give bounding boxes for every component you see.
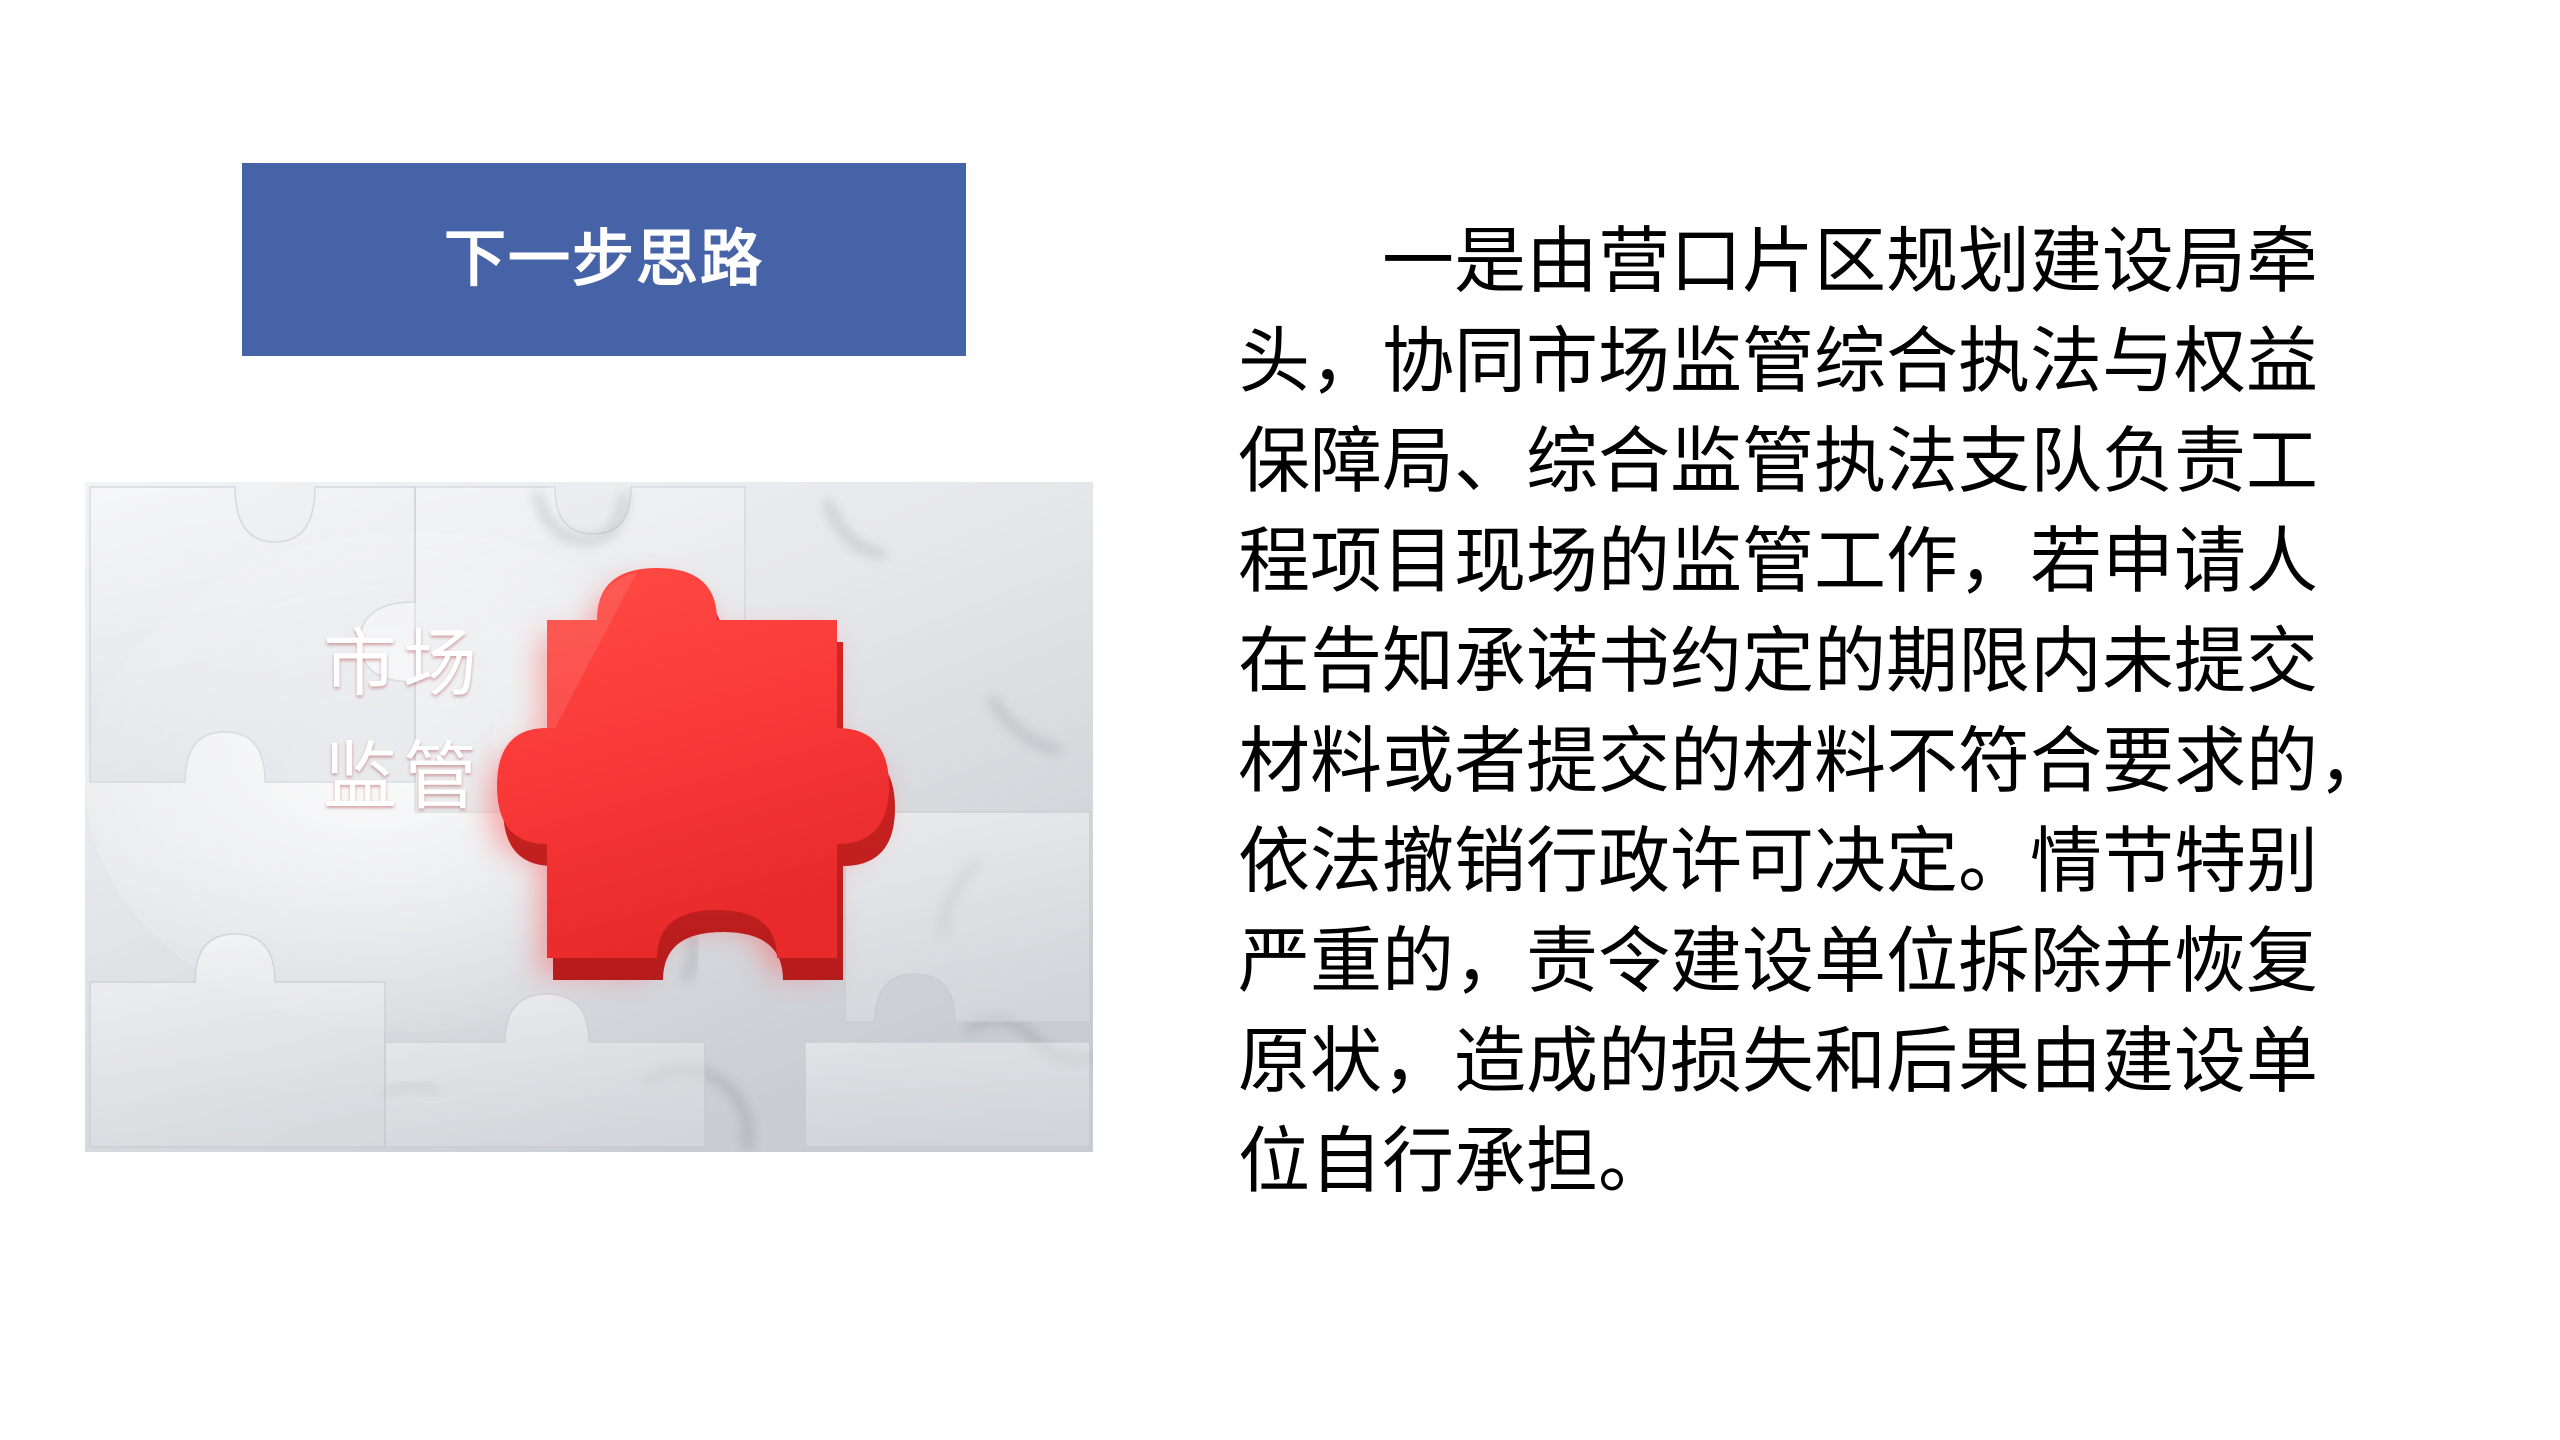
body-line-text: 头，协同市场监管综合执法与权益 bbox=[1238, 322, 2318, 402]
body-line: 依法撤销行政许可决定。情节特别 bbox=[1238, 812, 2206, 912]
title-banner-label: 下一步思路 bbox=[444, 229, 764, 291]
body-line: 程项目现场的监管工作，若申请人 bbox=[1238, 512, 2206, 612]
body-line: 头，协同市场监管综合执法与权益 bbox=[1238, 312, 2206, 412]
body-line-text: 依法撤销行政许可决定。情节特别 bbox=[1238, 822, 2318, 902]
puzzle-image: 市场 监管 bbox=[85, 482, 1093, 1152]
body-line-text: 一是由营口片区规划建设局牵 bbox=[1382, 222, 2318, 302]
body-line: 位自行承担。 bbox=[1238, 1112, 2206, 1212]
slide-canvas: 下一步思路 bbox=[0, 0, 2560, 1440]
body-line-text: 严重的，责令建设单位拆除并恢复 bbox=[1238, 922, 2318, 1002]
body-line: 一是由营口片区规划建设局牵 bbox=[1238, 212, 2206, 312]
title-banner: 下一步思路 bbox=[242, 163, 966, 356]
body-line-text: 原状，造成的损失和后果由建设单 bbox=[1238, 1022, 2318, 1102]
body-line: 原状，造成的损失和后果由建设单 bbox=[1238, 1012, 2206, 1112]
body-line: 在告知承诺书约定的期限内未提交 bbox=[1238, 612, 2206, 712]
body-line-text: 保障局、综合监管执法支队负责工 bbox=[1238, 422, 2318, 502]
body-paragraph: 一是由营口片区规划建设局牵 头，协同市场监管综合执法与权益 保障局、综合监管执法… bbox=[1238, 212, 2206, 1212]
puzzle-illustration bbox=[85, 482, 1093, 1152]
body-line: 保障局、综合监管执法支队负责工 bbox=[1238, 412, 2206, 512]
body-line: 材料或者提交的材料不符合要求的， bbox=[1238, 712, 2206, 812]
body-line: 严重的，责令建设单位拆除并恢复 bbox=[1238, 912, 2206, 1012]
body-line-text: 程项目现场的监管工作，若申请人 bbox=[1238, 522, 2318, 602]
body-line-text: 材料或者提交的材料不符合要求的， bbox=[1238, 722, 2390, 802]
body-line-text: 位自行承担。 bbox=[1238, 1122, 1670, 1202]
body-line-text: 在告知承诺书约定的期限内未提交 bbox=[1238, 622, 2318, 702]
